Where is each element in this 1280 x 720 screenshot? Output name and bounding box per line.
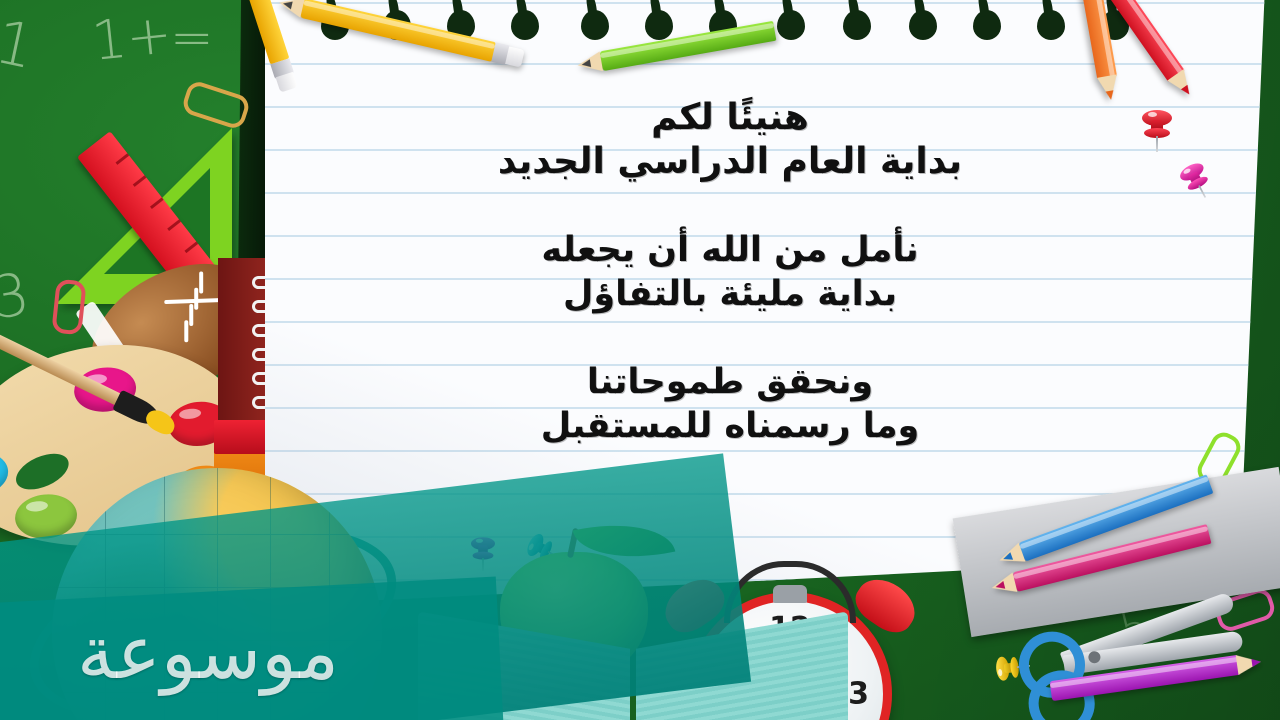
message-line: نأمل من الله أن يجعله bbox=[300, 228, 1160, 272]
message-line: ونحقق طموحاتنا bbox=[300, 360, 1160, 404]
message-panel: هنيئًا لكم بداية العام الدراسي الجديد نأ… bbox=[300, 96, 1160, 470]
book-edge-red bbox=[214, 420, 272, 454]
message-line: وما رسمناه للمستقبل bbox=[300, 404, 1160, 448]
watermark-text: موسوعة bbox=[77, 610, 339, 696]
clock-number-3: 3 bbox=[848, 677, 869, 712]
block-spacer bbox=[300, 338, 1160, 360]
message-block-wish: نأمل من الله أن يجعله بداية مليئة بالتفا… bbox=[300, 228, 1160, 316]
paint-blob-blue bbox=[0, 448, 10, 498]
message-line: بداية العام الدراسي الجديد bbox=[300, 140, 1160, 184]
block-spacer bbox=[300, 206, 1160, 228]
watermark: موسوعة bbox=[18, 608, 398, 698]
poster-canvas: 1 +1 = 3 2 5 bbox=[0, 0, 1280, 720]
message-line: بداية مليئة بالتفاؤل bbox=[300, 272, 1160, 316]
message-line: هنيئًا لكم bbox=[300, 96, 1160, 140]
message-block-greeting: هنيئًا لكم بداية العام الدراسي الجديد bbox=[300, 96, 1160, 184]
message-block-aspiration: ونحقق طموحاتنا وما رسمناه للمستقبل bbox=[300, 360, 1160, 448]
